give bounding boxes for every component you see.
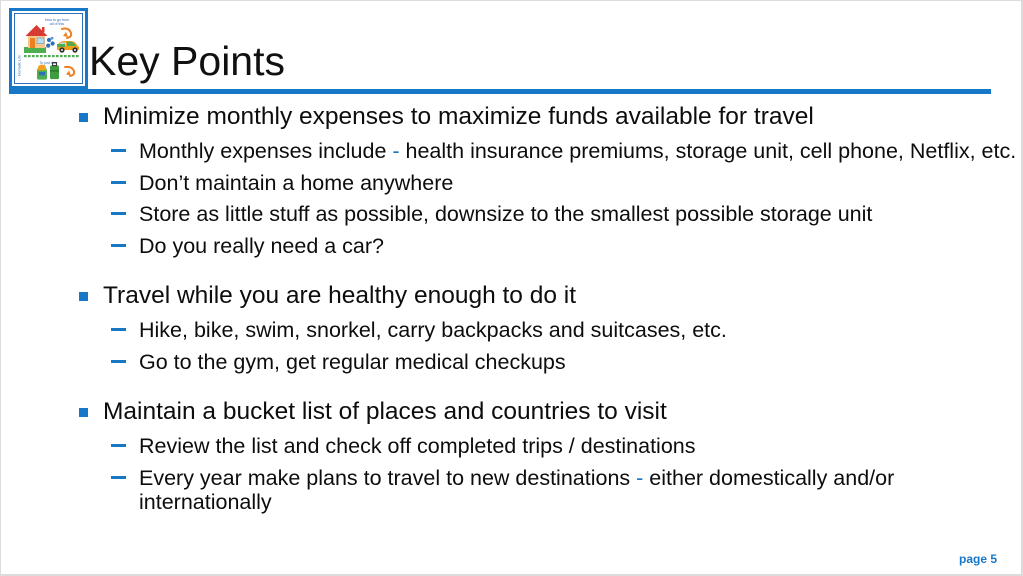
slide-title-block: Nomadic Life How to go from all of this: [1, 1, 1023, 97]
page-title: Key Points: [89, 39, 285, 83]
slide-canvas: Nomadic Life How to go from all of this: [0, 0, 1023, 576]
bullet-level2: Go to the gym, get regular medical check…: [1, 350, 1023, 375]
title-underline-rule: [9, 89, 991, 94]
bullet-level1: Travel while you are healthy enough to d…: [1, 280, 1023, 311]
bullet-level1: Minimize monthly expenses to maximize fu…: [1, 101, 1023, 132]
square-bullet-icon: [79, 292, 88, 301]
spacer: [1, 227, 1023, 234]
bullet-level2: Hike, bike, swim, snorkel, carry backpac…: [1, 318, 1023, 343]
sub-text-pre: Monthly expenses include: [139, 139, 392, 163]
bullet-level2-label: Review the list and check off completed …: [139, 434, 1023, 459]
spacer: [1, 164, 1023, 171]
dash-bullet-icon: [111, 328, 126, 331]
bullet-level2: Review the list and check off completed …: [1, 434, 1023, 459]
page-number: page 5: [959, 552, 997, 566]
spacer: [1, 343, 1023, 350]
spacer: [1, 374, 1023, 396]
spacer: [1, 258, 1023, 280]
bullet-level2: Do you really need a car?: [1, 234, 1023, 259]
spacer: [1, 132, 1023, 139]
inline-accent-dash: -: [392, 139, 399, 163]
bullet-level2-label: Don’t maintain a home anywhere: [139, 171, 1023, 196]
logo-artwork: Nomadic Life How to go from all of this: [14, 13, 83, 84]
bullet-level1-label: Maintain a bucket list of places and cou…: [103, 396, 1023, 427]
bullet-level2: Every year make plans to travel to new d…: [1, 466, 1023, 515]
dash-bullet-icon: [111, 444, 126, 447]
dash-bullet-icon: [111, 181, 126, 184]
bullet-level1-label: Minimize monthly expenses to maximize fu…: [103, 101, 1023, 132]
house-car-luggage-icon: Nomadic Life How to go from all of this: [15, 14, 82, 83]
square-bullet-icon: [79, 113, 88, 122]
svg-text:all of this: all of this: [50, 22, 64, 26]
bullet-level2-label: Every year make plans to travel to new d…: [139, 466, 1023, 515]
bullet-level2-label: Hike, bike, swim, snorkel, carry backpac…: [139, 318, 1023, 343]
spacer: [1, 195, 1023, 202]
dash-bullet-icon: [111, 244, 126, 247]
bullet-level2-label: Go to the gym, get regular medical check…: [139, 350, 1023, 375]
slide-logo: Nomadic Life How to go from all of this: [9, 8, 88, 89]
sub-text-post: health insurance premiums, storage unit,…: [400, 139, 1017, 163]
sub-text-pre: Every year make plans to travel to new d…: [139, 466, 636, 490]
dash-bullet-icon: [111, 212, 126, 215]
slide-body: Minimize monthly expenses to maximize fu…: [1, 101, 1023, 515]
dash-bullet-icon: [111, 476, 126, 479]
bullet-level2: Store as little stuff as possible, downs…: [1, 202, 1023, 227]
spacer: [1, 427, 1023, 434]
bullet-level2: Don’t maintain a home anywhere: [1, 171, 1023, 196]
bullet-level2: Monthly expenses include - health insura…: [1, 139, 1023, 164]
spacer: [1, 311, 1023, 318]
svg-text:Nomadic Life: Nomadic Life: [18, 55, 22, 76]
dash-bullet-icon: [111, 149, 126, 152]
bullet-level2-label: Monthly expenses include - health insura…: [139, 139, 1023, 164]
bullet-level2-label: Do you really need a car?: [139, 234, 1023, 259]
bullet-level2-label: Store as little stuff as possible, downs…: [139, 202, 1023, 227]
bullet-level1: Maintain a bucket list of places and cou…: [1, 396, 1023, 427]
square-bullet-icon: [79, 408, 88, 417]
dash-bullet-icon: [111, 360, 126, 363]
spacer: [1, 459, 1023, 466]
bullet-level1-label: Travel while you are healthy enough to d…: [103, 280, 1023, 311]
